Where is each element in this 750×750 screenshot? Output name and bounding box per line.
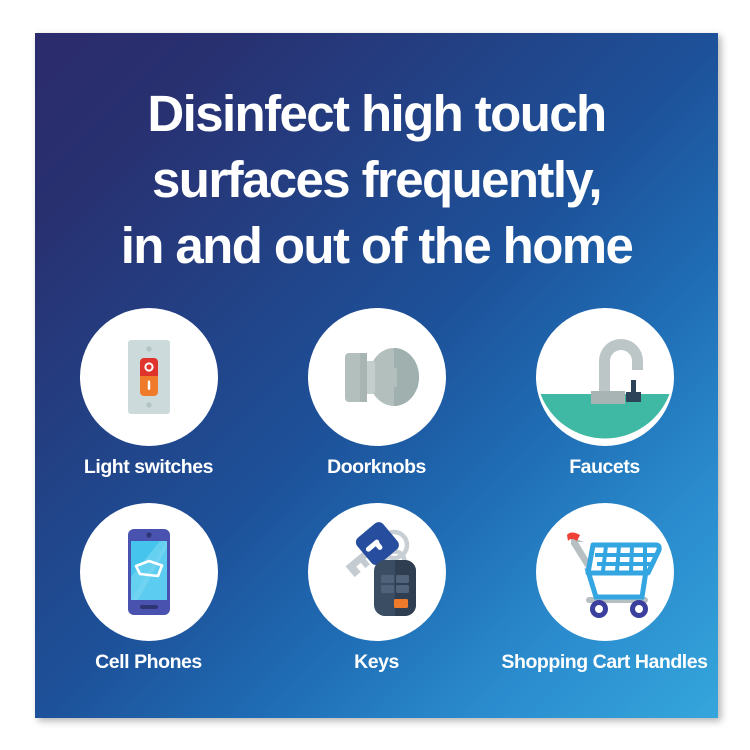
doorknob-icon — [308, 308, 446, 446]
page-title: Disinfect high touch surfaces frequently… — [35, 81, 718, 279]
headline-line-3: in and out of the home — [35, 213, 718, 279]
item-label: Shopping Cart Handles — [431, 651, 718, 674]
keys-icon — [308, 503, 446, 641]
poster-card: Disinfect high touch surfaces frequently… — [35, 33, 718, 718]
icon-row-bottom: Cell Phones — [35, 503, 718, 703]
item-label: Faucets — [491, 456, 718, 479]
icon-circle — [80, 503, 218, 641]
light-switch-icon — [80, 308, 218, 446]
item-shopping-cart-handles: Shopping Cart Handles — [491, 503, 718, 703]
headline-line-2: surfaces frequently, — [35, 147, 718, 213]
faucet-icon — [536, 308, 674, 446]
icon-circle — [536, 308, 674, 446]
icon-circle — [308, 503, 446, 641]
cell-phone-icon — [80, 503, 218, 641]
item-cell-phones: Cell Phones — [35, 503, 262, 703]
icon-circle — [308, 308, 446, 446]
headline-line-1: Disinfect high touch — [35, 81, 718, 147]
item-light-switches: Light switches — [35, 308, 262, 508]
shopping-cart-icon — [536, 503, 674, 641]
icon-circle — [536, 503, 674, 641]
icon-circle — [80, 308, 218, 446]
icon-row-top: Light switches Doorknobs — [35, 308, 718, 508]
item-label: Cell Phones — [35, 651, 262, 674]
item-faucets: Faucets — [491, 308, 718, 508]
item-label: Light switches — [35, 456, 262, 479]
item-label: Doorknobs — [263, 456, 490, 479]
item-doorknobs: Doorknobs — [263, 308, 490, 508]
